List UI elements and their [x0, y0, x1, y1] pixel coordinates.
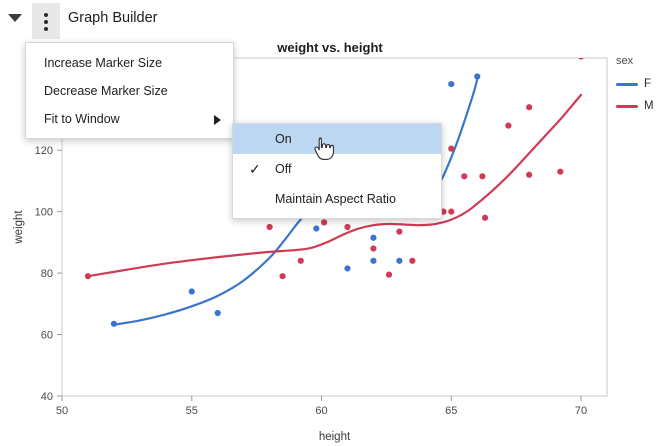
- svg-text:55: 55: [186, 405, 198, 417]
- svg-text:60: 60: [315, 405, 327, 417]
- legend-swatch-f: [616, 83, 638, 86]
- check-icon: ✓: [249, 154, 261, 184]
- svg-text:height: height: [319, 431, 351, 443]
- svg-text:40: 40: [41, 391, 53, 403]
- legend-label-m: M: [644, 100, 654, 112]
- svg-text:70: 70: [575, 405, 587, 417]
- kebab-dot: [44, 20, 48, 24]
- kebab-dot: [44, 13, 48, 17]
- svg-text:60: 60: [41, 330, 53, 342]
- svg-text:120: 120: [35, 145, 53, 157]
- submenu-item-on[interactable]: On: [233, 124, 441, 154]
- menu-item-decrease-marker-size[interactable]: Decrease Marker Size: [26, 77, 233, 105]
- context-menu[interactable]: Increase Marker Size Decrease Marker Siz…: [25, 42, 234, 139]
- submenu-item-label: On: [275, 132, 292, 146]
- svg-text:50: 50: [56, 405, 68, 417]
- menu-item-label: Increase Marker Size: [44, 56, 162, 70]
- menu-item-fit-to-window[interactable]: Fit to Window: [26, 105, 233, 133]
- submenu-item-maintain-aspect-ratio[interactable]: Maintain Aspect Ratio: [233, 184, 441, 214]
- legend-swatch-m: [616, 105, 638, 108]
- svg-text:80: 80: [41, 268, 53, 280]
- legend: sex F M: [616, 55, 664, 119]
- legend-title: sex: [616, 55, 664, 67]
- legend-label-f: F: [644, 78, 651, 90]
- chevron-right-icon: [214, 115, 221, 125]
- submenu-item-label: Off: [275, 162, 291, 176]
- svg-text:65: 65: [445, 405, 457, 417]
- menu-item-increase-marker-size[interactable]: Increase Marker Size: [26, 49, 233, 77]
- svg-text:100: 100: [35, 207, 53, 219]
- submenu-item-label: Maintain Aspect Ratio: [275, 192, 396, 206]
- triangle-down-icon[interactable]: [8, 14, 22, 22]
- fit-to-window-submenu[interactable]: On ✓ Off Maintain Aspect Ratio: [232, 123, 442, 219]
- svg-text:weight: weight: [13, 210, 25, 245]
- menu-item-label: Decrease Marker Size: [44, 84, 168, 98]
- legend-item-f[interactable]: F: [616, 75, 664, 93]
- menu-item-label: Fit to Window: [44, 112, 120, 126]
- submenu-item-off[interactable]: ✓ Off: [233, 154, 441, 184]
- page-title: Graph Builder: [68, 10, 157, 26]
- legend-item-m[interactable]: M: [616, 97, 664, 115]
